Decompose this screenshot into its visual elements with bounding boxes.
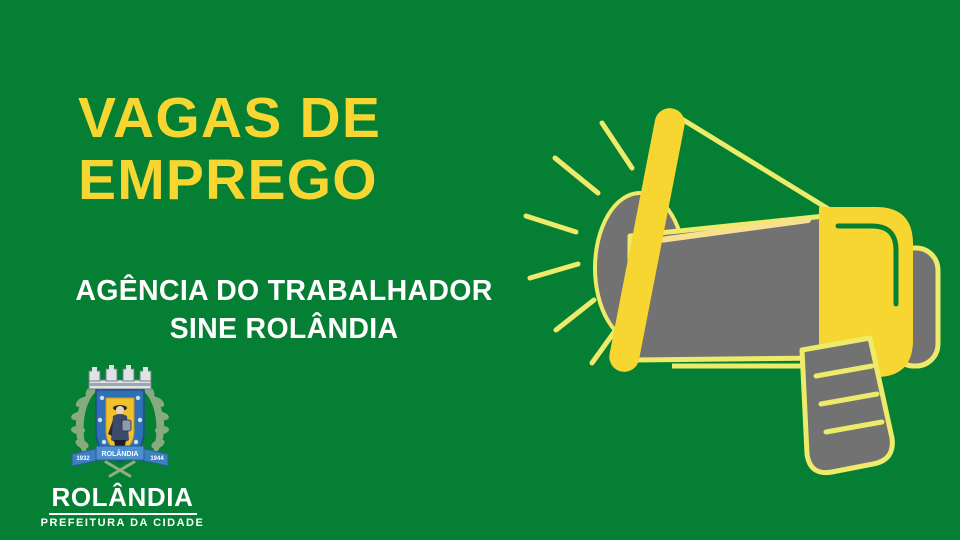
mural-crown	[89, 365, 151, 389]
wreath-right	[141, 383, 169, 460]
crossed-branches	[106, 462, 134, 476]
logo-divider	[49, 513, 197, 515]
megaphone-illustration	[520, 88, 960, 488]
wreath-left	[70, 383, 98, 460]
city-logo: ROLÂNDIA 1932 1944 ROLÂNDIA PREFEITURA D…	[30, 358, 215, 533]
page-subtitle: AGÊNCIA DO TRABALHADOR SINE ROLÂNDIA	[24, 272, 544, 348]
crest-banner-text: ROLÂNDIA	[102, 449, 139, 458]
coat-of-arms: ROLÂNDIA 1932 1944	[58, 358, 182, 480]
logo-city-name: ROLÂNDIA	[30, 484, 215, 510]
megaphone-icon	[520, 88, 960, 488]
coat-of-arms-icon: ROLÂNDIA 1932 1944	[58, 358, 182, 480]
logo-wordmark: ROLÂNDIA PREFEITURA DA CIDADE	[30, 484, 215, 529]
crest-date-right: 1944	[150, 456, 164, 462]
crest-banner: ROLÂNDIA 1932 1944	[72, 446, 168, 466]
poster-canvas: VAGAS DE EMPREGO AGÊNCIA DO TRABALHADOR …	[0, 0, 960, 540]
logo-tagline: PREFEITURA DA CIDADE	[30, 518, 215, 529]
crest-date-left: 1932	[76, 456, 90, 462]
page-title: VAGAS DE EMPREGO	[78, 88, 518, 211]
